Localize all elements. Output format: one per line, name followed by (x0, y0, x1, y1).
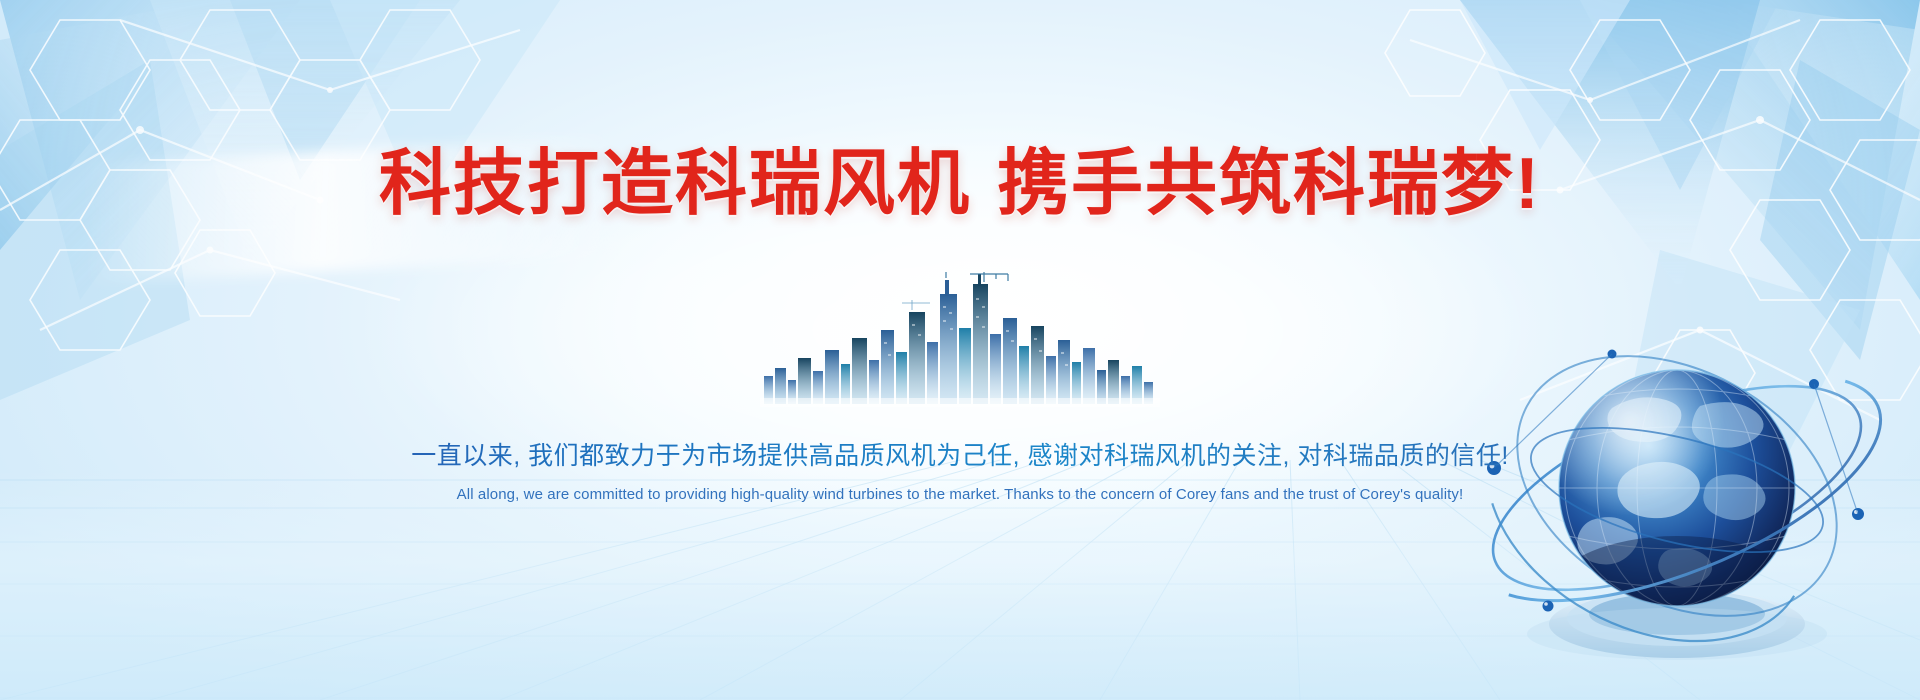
page-title: 科技打造科瑞风机携手共筑科瑞梦! (0, 0, 1920, 220)
banner-content: 科技打造科瑞风机携手共筑科瑞梦! 一直以来, 我们都致力于为市场提供高品质风机为… (0, 0, 1920, 503)
headline-part-one: 科技打造科瑞风机 (379, 144, 971, 224)
headline-part-two: 携手共筑科瑞梦! (997, 144, 1541, 224)
subtitle-chinese: 一直以来, 我们都致力于为市场提供高品质风机为己任, 感谢对科瑞风机的关注, 对… (0, 220, 1920, 472)
subtitle-english: All along, we are committed to providing… (0, 472, 1920, 503)
promo-banner: 科技打造科瑞风机携手共筑科瑞梦! 一直以来, 我们都致力于为市场提供高品质风机为… (0, 0, 1920, 700)
